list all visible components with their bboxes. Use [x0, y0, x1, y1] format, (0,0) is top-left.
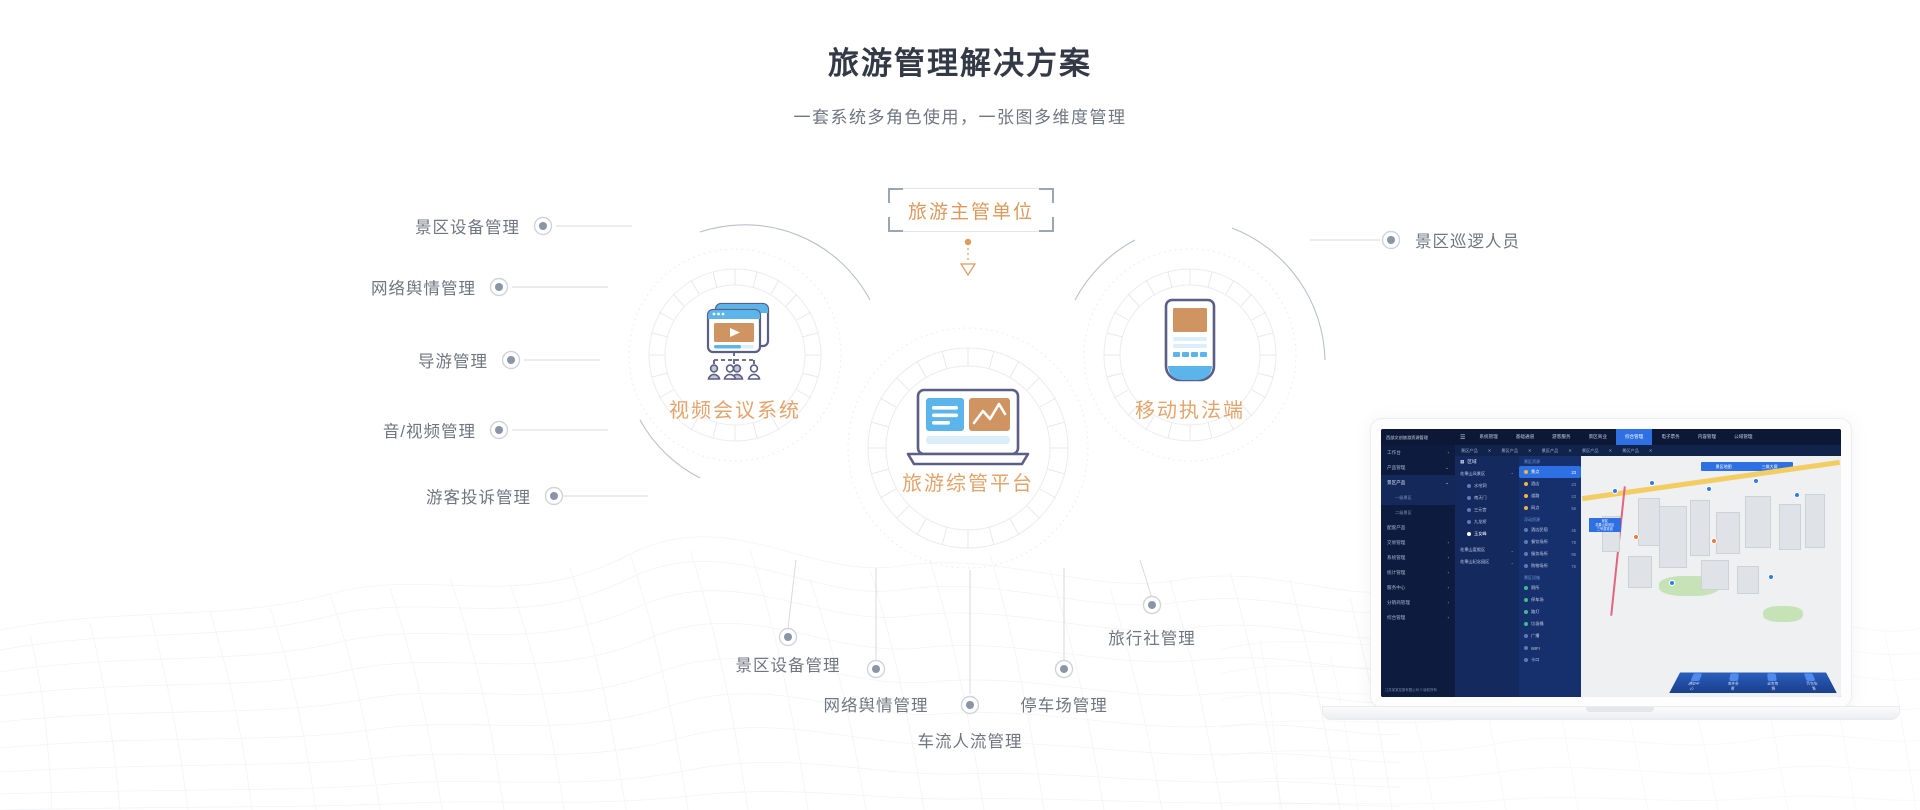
- menu-item[interactable]: 基础通道: [1507, 429, 1543, 445]
- tree-node[interactable]: 花果山纪念园区⌄: [1455, 556, 1519, 568]
- map-action[interactable]: 异常处置: [1801, 673, 1822, 692]
- corner-tr-icon: [1039, 188, 1054, 203]
- chevron-right-icon: ›: [1447, 570, 1449, 575]
- scenic-icon: [1524, 470, 1528, 474]
- grid-icon: ▦: [1460, 459, 1464, 465]
- map-pin[interactable]: [1706, 486, 1712, 492]
- map-park-area: [1763, 606, 1803, 622]
- sidebar-item-label: 统计管理: [1387, 570, 1405, 576]
- tree-node[interactable]: 花果山度假区⌄: [1455, 544, 1519, 556]
- map-pin[interactable]: [1649, 480, 1655, 486]
- layer-item[interactable]: 酒店民宿45: [1519, 524, 1581, 536]
- tree-child[interactable]: 水帘洞: [1455, 480, 1519, 492]
- lodging-icon: [1524, 528, 1528, 532]
- layer-group-title: 浮动资源: [1519, 514, 1581, 524]
- bottom-label-network-opinion[interactable]: 网络舆情管理: [824, 692, 929, 716]
- tab-close-icon[interactable]: ✕: [1649, 448, 1653, 453]
- left-label-scenic-device[interactable]: 景区设备管理: [415, 214, 520, 238]
- sidebar-item[interactable]: 综合管理›: [1381, 610, 1455, 625]
- chevron-right-icon: ›: [1447, 600, 1449, 605]
- laptop-screen-frame: 西部文创旅游资源管理 ☰ 系统管理 基础通道 游客服务 景区商业 综合管理 电子…: [1370, 418, 1852, 708]
- map-building: [1690, 500, 1710, 556]
- layer-item[interactable]: 厕所: [1519, 582, 1581, 594]
- sidebar-subitem[interactable]: 一级景区: [1381, 490, 1455, 505]
- layer-group-title: 景区设施: [1519, 572, 1581, 582]
- dashboard-screen[interactable]: 西部文创旅游资源管理 ☰ 系统管理 基础通道 游客服务 景区商业 综合管理 电子…: [1381, 429, 1841, 697]
- tab-item[interactable]: 景区产品: [1501, 448, 1518, 454]
- map-building: [1659, 506, 1687, 568]
- chevron-right-icon: ›: [1447, 585, 1449, 590]
- tree-child[interactable]: 三元宫: [1455, 504, 1519, 516]
- parking-icon: [1524, 598, 1528, 602]
- layer-item[interactable]: 餐饮场所78: [1519, 536, 1581, 548]
- checkpoint-icon: [1524, 658, 1528, 662]
- sidebar-item[interactable]: 统计管理›: [1381, 565, 1455, 580]
- layer-item[interactable]: 服务场所95: [1519, 548, 1581, 560]
- map-action[interactable]: 通知中心: [1683, 673, 1704, 692]
- sidebar-item-label: 服务中心: [1387, 585, 1405, 591]
- tab-close-icon[interactable]: ✕: [1488, 448, 1492, 453]
- map-canvas[interactable]: 景区地图 三维大屏: [1581, 456, 1841, 697]
- map-building: [1745, 496, 1771, 548]
- map-pin[interactable]: [1794, 492, 1800, 498]
- tree-child[interactable]: 南天门: [1455, 492, 1519, 504]
- map-pin[interactable]: [1753, 478, 1759, 484]
- sidebar-item-label: 系统管理: [1387, 555, 1405, 561]
- map-building: [1628, 556, 1652, 588]
- network-icon: [1524, 506, 1528, 510]
- dashboard-brand: 西部文创旅游资源管理: [1381, 435, 1455, 440]
- sidebar-item-label: 景区产品: [1387, 480, 1405, 486]
- tab-item[interactable]: 景区产品: [1542, 448, 1559, 454]
- broadcast-icon: [1524, 634, 1528, 638]
- tab-close-icon[interactable]: ✕: [1528, 448, 1532, 453]
- chevron-up-icon[interactable]: ⌃: [1510, 472, 1514, 477]
- map-building: [1638, 498, 1660, 546]
- solution-diagram-page: 旅游管理解决方案 一套系统多角色使用，一张图多维度管理: [0, 0, 1920, 810]
- layer-item[interactable]: 购物场所76: [1519, 560, 1581, 572]
- chevron-down-icon: ⌄: [1445, 465, 1449, 471]
- tab-close-icon[interactable]: ✕: [1609, 448, 1613, 453]
- map-building: [1737, 566, 1759, 594]
- dining-icon: [1524, 540, 1528, 544]
- laptop-dashboard-icon: [908, 390, 1028, 464]
- map-callout[interactable]: 景区 花果山风景区 三号游览线: [1589, 518, 1621, 532]
- menu-item[interactable]: 电子票务: [1652, 429, 1688, 445]
- sidebar-item[interactable]: 产品管理⌄: [1381, 460, 1455, 475]
- layer-item[interactable]: WIFI: [1519, 642, 1581, 654]
- sidebar-group[interactable]: 景区产品⌄: [1381, 475, 1455, 490]
- sidebar-group[interactable]: 配套产品: [1381, 520, 1455, 535]
- sidebar-subitem[interactable]: 二级景区: [1381, 505, 1455, 520]
- left-label-guide-management[interactable]: 导游管理: [418, 348, 488, 372]
- node-dot-icon: [1467, 496, 1471, 500]
- layer-item[interactable]: 酒店23: [1519, 478, 1581, 490]
- dashboard-tabs[interactable]: 景区产品 ✕ 景区产品 ✕ 景区产品 ✕ 景区产品 ✕ 景区产品 ✕: [1455, 445, 1841, 456]
- tab-item[interactable]: 景区产品: [1582, 448, 1599, 454]
- notice-center-icon: [1690, 673, 1702, 681]
- dashboard-menu[interactable]: 系统管理 基础通道 游客服务 景区商业 综合管理 电子票务 内容管理 公域管理: [1470, 429, 1841, 445]
- sidebar-item-label: 工作台: [1387, 450, 1401, 456]
- node-label-video-conference: 视频会议系统: [669, 394, 801, 423]
- tab-close-icon[interactable]: ✕: [1568, 448, 1572, 453]
- top-authority-box[interactable]: 旅游主管单位: [889, 188, 1053, 232]
- layer-item[interactable]: 路灯: [1519, 606, 1581, 618]
- hotel-icon: [1524, 482, 1528, 486]
- layer-item[interactable]: 停车场: [1519, 594, 1581, 606]
- chevron-down-icon[interactable]: ⌄: [1510, 560, 1514, 565]
- event-handling-icon: [1729, 673, 1739, 681]
- menu-item[interactable]: 系统管理: [1470, 429, 1506, 445]
- layer-item[interactable]: 垃圾桶: [1519, 618, 1581, 630]
- map-building: [1716, 512, 1740, 554]
- sidebar-item[interactable]: 服务中心›: [1381, 580, 1455, 595]
- map-pin-alert[interactable]: [1711, 538, 1717, 544]
- node-label-mobile-enforcement: 移动执法端: [1135, 394, 1245, 423]
- sidebar-item[interactable]: 分销商管理›: [1381, 595, 1455, 610]
- map-action-bar[interactable]: 通知中心 事件处置 业务管理 异常处置: [1669, 672, 1837, 692]
- bottom-label-scenic-device[interactable]: 景区设备管理: [736, 652, 841, 676]
- menu-item-active[interactable]: 综合管理: [1616, 429, 1652, 445]
- bottom-label-traffic-flow[interactable]: 车流人流管理: [918, 728, 1023, 752]
- sidebar-item[interactable]: 系统管理›: [1381, 550, 1455, 565]
- sidebar-item-label: 二级景区: [1395, 510, 1412, 516]
- map-pin[interactable]: [1768, 574, 1774, 580]
- sidebar-item-label: 产品管理: [1387, 465, 1405, 471]
- business-mgmt-icon: [1767, 673, 1777, 681]
- corner-tl-icon: [888, 188, 903, 203]
- corner-bl-icon: [888, 217, 903, 232]
- tab-item[interactable]: 景区产品: [1622, 448, 1639, 454]
- road-icon: [1524, 494, 1528, 498]
- sidebar-item-label: 分销商管理: [1387, 600, 1410, 606]
- map-pin-alert[interactable]: [1633, 534, 1639, 540]
- handheld-terminal-icon: [1166, 300, 1214, 380]
- sidebar-item-label: 一级景区: [1395, 495, 1412, 501]
- right-dot-core: [1387, 236, 1395, 244]
- left-label-network-opinion[interactable]: 网络舆情管理: [371, 275, 476, 299]
- left-label-complaint[interactable]: 游客投诉管理: [426, 484, 531, 508]
- layer-item[interactable]: 卡口: [1519, 654, 1581, 666]
- sidebar-item-label: 综合管理: [1387, 615, 1405, 621]
- map-building: [1779, 504, 1801, 550]
- left-label-av-management[interactable]: 音/视频管理: [383, 418, 476, 442]
- tree-child-selected[interactable]: 玉女峰: [1455, 528, 1519, 540]
- tree-child[interactable]: 九龙桥: [1455, 516, 1519, 528]
- streetlight-icon: [1524, 610, 1528, 614]
- map-action[interactable]: 业务管理: [1764, 673, 1780, 692]
- bottom-label-parking[interactable]: 停车场管理: [1020, 692, 1108, 716]
- node-dot-icon: [1467, 520, 1471, 524]
- layer-item[interactable]: 网点56: [1519, 502, 1581, 514]
- left-dots: [491, 218, 563, 505]
- dashboard-sidebar[interactable]: 工作台› 产品管理⌄ 景区产品⌄ 一级景区 二级景区 配套产品 交易管理› 系统…: [1381, 445, 1455, 697]
- chevron-right-icon: ›: [1447, 615, 1449, 620]
- menu-item[interactable]: 内容管理: [1689, 429, 1725, 445]
- sidebar-item-label: 交易管理: [1387, 540, 1405, 546]
- toilet-icon: [1524, 586, 1528, 590]
- chevron-right-icon: ›: [1447, 555, 1449, 560]
- chevron-down-icon: ⌄: [1445, 480, 1449, 486]
- hamburger-icon[interactable]: ☰: [1455, 434, 1470, 441]
- top-authority-label: 旅游主管单位: [908, 197, 1034, 224]
- top-box-arrow: [961, 239, 975, 275]
- menu-item[interactable]: 公域管理: [1725, 429, 1761, 445]
- trashbin-icon: [1524, 622, 1528, 626]
- layer-item-active[interactable]: 景点23: [1519, 466, 1581, 478]
- shopping-icon: [1524, 564, 1528, 568]
- dashboard-footer: 江苏某某控股有限公司 © 版权所有: [1385, 688, 1447, 693]
- node-label-tourism-platform: 旅游综管平台: [902, 467, 1034, 496]
- layer-panel[interactable]: 景区资源 景点23 酒店23 道路23 网点56 浮动资源 酒店民宿45 餐饮场…: [1519, 456, 1581, 697]
- left-connectors: [512, 226, 648, 496]
- sidebar-item[interactable]: 交易管理›: [1381, 535, 1455, 550]
- right-label-patrol-staff[interactable]: 景区巡逻人员: [1415, 228, 1520, 252]
- layer-item[interactable]: 道路23: [1519, 490, 1581, 502]
- node-dot-icon: [1467, 508, 1471, 512]
- chevron-right-icon: ›: [1447, 540, 1449, 545]
- sidebar-item-label: 配套产品: [1387, 525, 1405, 531]
- map-building: [1701, 560, 1729, 590]
- bottom-label-travel-agency[interactable]: 旅行社管理: [1108, 625, 1196, 649]
- dashboard-topbar: 西部文创旅游资源管理 ☰ 系统管理 基础通道 游客服务 景区商业 综合管理 电子…: [1381, 429, 1841, 445]
- sidebar-item[interactable]: 工作台›: [1381, 445, 1455, 460]
- laptop-mockup: 西部文创旅游资源管理 ☰ 系统管理 基础通道 游客服务 景区商业 综合管理 电子…: [1370, 418, 1870, 748]
- map-view-option[interactable]: 景区地图: [1716, 464, 1732, 470]
- map-action[interactable]: 事件处置: [1724, 673, 1741, 692]
- wifi-icon: [1524, 646, 1528, 650]
- layer-group-title: 景区资源: [1519, 456, 1581, 466]
- node-dot-icon: [1467, 484, 1471, 488]
- map-building: [1805, 494, 1825, 548]
- chevron-down-icon[interactable]: ⌄: [1510, 548, 1514, 553]
- bottom-connectors: [788, 560, 1152, 694]
- layer-item[interactable]: 广播: [1519, 630, 1581, 642]
- menu-item[interactable]: 游客服务: [1543, 429, 1579, 445]
- laptop-base-notch: [1586, 707, 1654, 712]
- service-icon: [1524, 552, 1528, 556]
- tab-item[interactable]: 景区产品: [1461, 448, 1478, 454]
- region-tree-title: ▦ 区域: [1455, 456, 1519, 468]
- exception-handling-icon: [1803, 673, 1815, 681]
- video-window-icon: [708, 304, 768, 379]
- menu-item[interactable]: 景区商业: [1580, 429, 1616, 445]
- corner-br-icon: [1039, 217, 1054, 232]
- region-tree-panel[interactable]: ▦ 区域 花果山风景区⌃ 水帘洞 南天门 三元宫 九龙桥 玉女峰 花果山度假区⌄…: [1455, 456, 1519, 697]
- node-dot-icon: [1467, 532, 1471, 536]
- tree-node[interactable]: 花果山风景区⌃: [1455, 468, 1519, 480]
- chevron-right-icon: ›: [1447, 450, 1449, 455]
